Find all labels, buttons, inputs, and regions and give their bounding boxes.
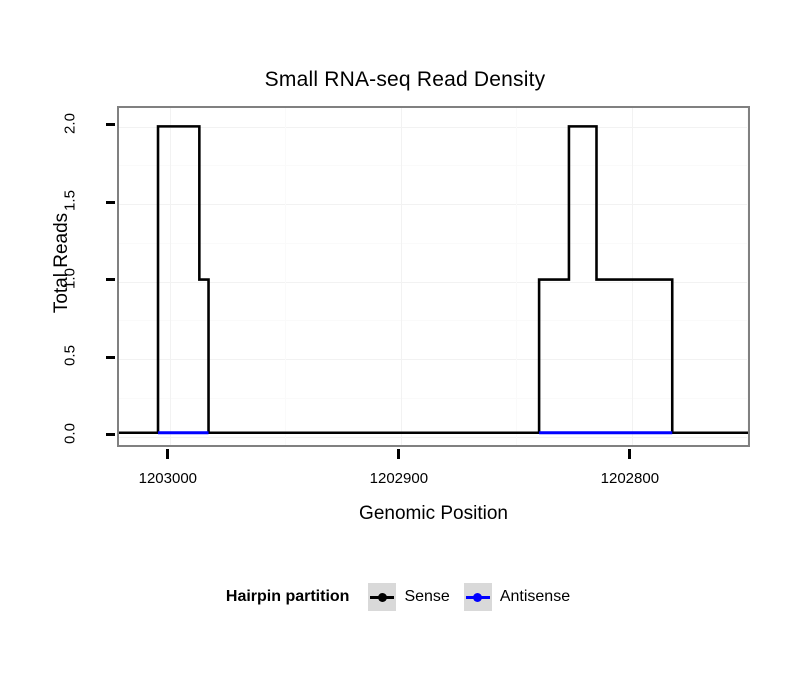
legend-title: Hairpin partition <box>226 588 350 606</box>
legend: Hairpin partition Sense Antisense <box>0 583 810 611</box>
y-tick-mark <box>106 278 115 281</box>
x-tick-mark <box>166 449 169 459</box>
y-tick-label: 2.0 <box>62 100 79 146</box>
y-axis-title: Total Reads <box>51 193 73 333</box>
legend-key-sense-icon <box>368 583 396 611</box>
legend-item-sense[interactable]: Sense <box>368 583 449 611</box>
y-tick-label: 0.5 <box>62 333 79 379</box>
legend-item-antisense[interactable]: Antisense <box>464 583 570 611</box>
legend-key-antisense-icon <box>464 583 492 611</box>
y-tick-mark <box>106 356 115 359</box>
legend-label-sense: Sense <box>404 588 449 606</box>
legend-key-dot <box>473 593 482 602</box>
x-tick-label: 1202800 <box>575 470 685 487</box>
series-line-sense <box>119 126 748 432</box>
y-tick-mark <box>106 433 115 436</box>
y-tick-mark <box>106 123 115 126</box>
chart-title: Small RNA-seq Read Density <box>0 68 810 92</box>
data-series-layer <box>119 108 748 445</box>
x-axis-title: Genomic Position <box>117 503 750 525</box>
y-tick-mark <box>106 201 115 204</box>
x-tick-mark <box>397 449 400 459</box>
plot-panel <box>117 106 750 447</box>
x-tick-label: 1202900 <box>344 470 454 487</box>
legend-label-antisense: Antisense <box>500 588 570 606</box>
x-tick-mark <box>628 449 631 459</box>
x-tick-label: 1203000 <box>113 470 223 487</box>
y-tick-label: 0.0 <box>62 410 79 456</box>
chart-root: Small RNA-seq Read Density 0.00.51.01.52… <box>0 0 810 690</box>
legend-key-dot <box>378 593 387 602</box>
